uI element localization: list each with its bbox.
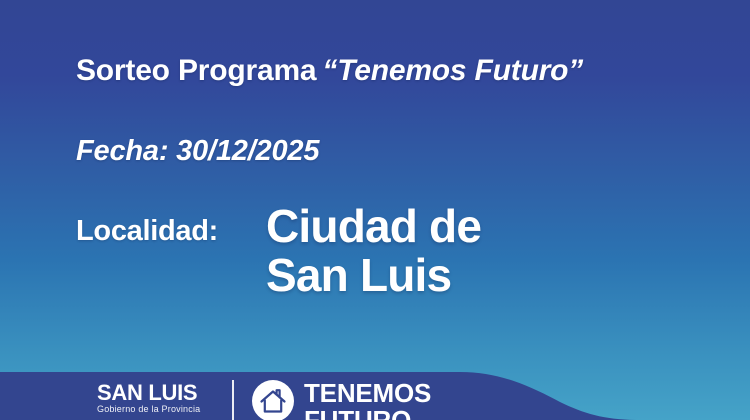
brand-tenemos-futuro: TENEMOS FUTURO (304, 380, 431, 420)
locality-value-line-2: San Luis (266, 251, 686, 300)
title-program-name: “Tenemos Futuro” (322, 54, 583, 87)
house-icon-glyph (252, 380, 294, 420)
brand-futuro-title: FUTURO (304, 407, 431, 420)
footer-brand-bar: SAN LUIS Gobierno de la Provincia TENEMO… (0, 372, 750, 420)
locality-label: Localidad: (76, 215, 218, 248)
brand-sanluis: SAN LUIS Gobierno de la Provincia (97, 381, 200, 415)
title-program-text: Sorteo Programa (76, 54, 316, 87)
brand-sanluis-title: SAN LUIS (97, 381, 200, 404)
brand-tenemos-title: TENEMOS (304, 380, 431, 407)
house-icon (252, 380, 294, 420)
sorteo-announcement-poster: Sorteo Programa“Tenemos Futuro” Fecha: 3… (0, 0, 750, 420)
page-title: Sorteo Programa“Tenemos Futuro” (76, 54, 583, 88)
brand-divider (232, 380, 234, 420)
footer-brand-content: SAN LUIS Gobierno de la Provincia TENEMO… (0, 372, 750, 420)
draw-date-line: Fecha: 30/12/2025 (76, 135, 319, 168)
brand-sanluis-subtitle: Gobierno de la Provincia (97, 404, 200, 415)
locality-value: Ciudad de San Luis (266, 202, 686, 300)
locality-value-line-1: Ciudad de (266, 202, 686, 251)
